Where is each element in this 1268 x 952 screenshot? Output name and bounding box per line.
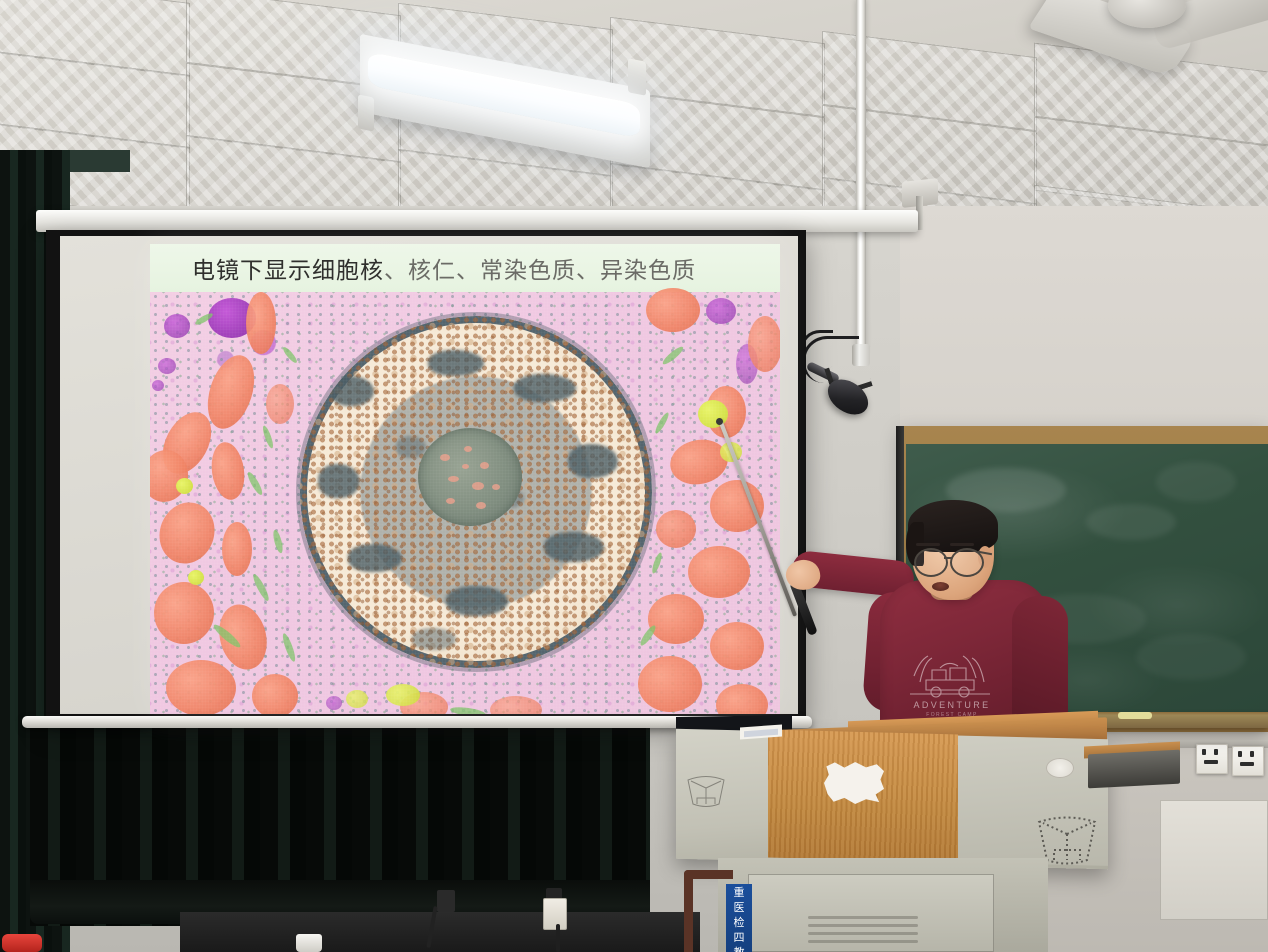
podium-vent: [808, 916, 918, 919]
electron-micrograph: [150, 292, 780, 714]
heterochromatin: [412, 628, 456, 650]
podium-vent: [808, 924, 918, 927]
fluorescent-light-endcap-right: [628, 58, 646, 95]
red-object: [2, 934, 42, 952]
lysosome: [176, 478, 193, 494]
mitochondrion: [222, 522, 252, 576]
projected-slide: 电镜下显示细胞核、核仁、常染色质、异染色质: [150, 244, 780, 714]
heterochromatin: [348, 544, 402, 572]
mitochondrion: [688, 546, 750, 598]
dense-body: [326, 696, 342, 710]
lecturer-eyebrow-left: [916, 543, 940, 546]
shirt-graphic-text: ADVENTURE: [906, 700, 998, 710]
lecturer-mouth: [932, 582, 949, 591]
lysosome: [346, 690, 368, 708]
pointer-tip: [716, 418, 723, 425]
nucleolus: [418, 428, 522, 526]
podium-vent: [808, 932, 918, 935]
wall-panel: [1160, 800, 1268, 920]
wall-outlet-1[interactable]: [1196, 744, 1228, 774]
front-desk: [180, 912, 700, 952]
wall-outlet-2[interactable]: [1232, 746, 1264, 776]
heterochromatin: [544, 532, 604, 562]
heterochromatin: [428, 350, 484, 376]
lysosome: [386, 684, 420, 706]
lysosome: [188, 570, 204, 585]
heterochromatin: [568, 444, 618, 478]
podium-vent: [808, 940, 918, 943]
projector-pole: [856, 0, 866, 352]
chalk-stick[interactable]: [1118, 712, 1152, 719]
mitochondrion: [648, 594, 704, 644]
mitochondrion: [656, 510, 696, 548]
dense-body: [164, 314, 190, 338]
wall-socket-left[interactable]: [437, 890, 455, 912]
heterochromatin: [514, 374, 576, 402]
mitochondrion: [710, 622, 764, 670]
heterochromatin: [318, 464, 360, 498]
glasses-bridge: [944, 557, 952, 559]
heterochromatin: [330, 376, 374, 406]
dense-body: [158, 358, 176, 374]
classroom-photo: 电镜下显示细胞核、核仁、常染色质、异染色质: [0, 0, 1268, 952]
heterochromatin: [446, 586, 508, 616]
fluorescent-light-endcap-left: [358, 94, 374, 131]
cup: [296, 934, 322, 952]
podium-label-sticker: [1046, 758, 1074, 778]
podium-slot: [1088, 750, 1180, 789]
mitochondrion: [252, 674, 298, 714]
projection-screen-roller[interactable]: [36, 210, 918, 232]
mitochondrion: [166, 660, 236, 714]
power-cable-right: [556, 924, 560, 952]
mitochondrion: [154, 582, 214, 644]
shirt-graphic-icon: [906, 636, 994, 698]
mitochondrion: [246, 292, 276, 354]
dense-body: [152, 380, 164, 391]
podium-torn-sticker: [824, 761, 884, 805]
mitochondrion: [748, 316, 780, 372]
lecturer-eyebrow-right: [950, 543, 974, 546]
room-banner-text: 重医检四教室: [726, 886, 752, 952]
glasses-lens-left: [914, 548, 948, 577]
cell-nucleus: [300, 316, 652, 668]
mitochondrion: [646, 288, 700, 332]
mitochondrion: [710, 480, 764, 532]
mitochondrion: [266, 384, 294, 424]
podium-emblem-left-icon: [684, 772, 728, 810]
heterochromatin: [396, 436, 426, 458]
slide-title: 电镜下显示细胞核、核仁、常染色质、异染色质: [192, 251, 752, 285]
wall-socket-right[interactable]: [543, 898, 567, 930]
dense-body: [706, 298, 736, 324]
